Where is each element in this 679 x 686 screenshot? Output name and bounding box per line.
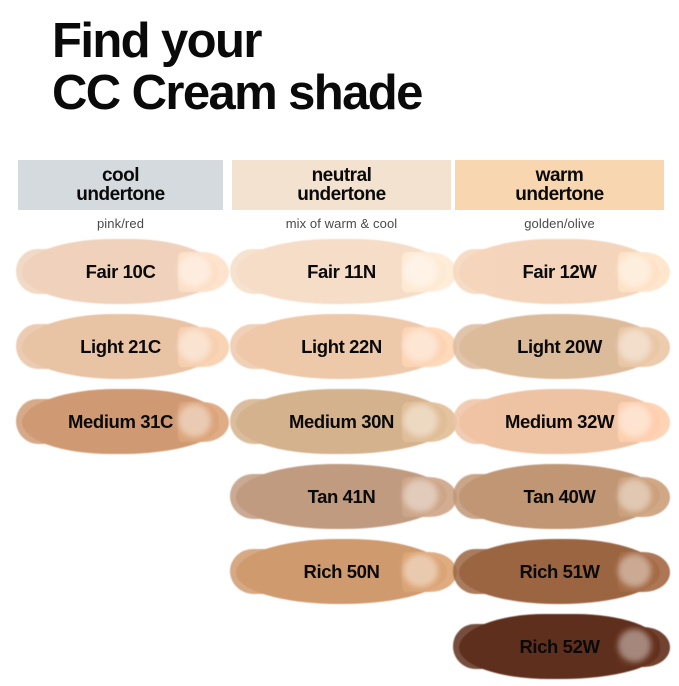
swatch-list-neutral: Fair 11NLight 22NMedium 30NTan 41NRich 5… xyxy=(232,236,451,607)
shade-label: Medium 31C xyxy=(68,411,173,433)
column-subtitle-neutral: mix of warm & cool xyxy=(232,210,451,236)
column-header-warm-line-1: warm xyxy=(515,166,603,185)
column-header-neutral: neutral undertone xyxy=(232,160,451,210)
swatch-list-warm: Fair 12WLight 20WMedium 32WTan 40WRich 5… xyxy=(455,236,664,682)
shade-swatch[interactable]: Fair 11N xyxy=(232,236,451,307)
undertone-column-cool: cool undertone pink/red Fair 10CLight 21… xyxy=(18,160,223,461)
shade-swatch[interactable]: Fair 12W xyxy=(455,236,664,307)
column-header-cool-line-2: undertone xyxy=(76,185,164,204)
swatch-list-cool: Fair 10CLight 21CMedium 31C xyxy=(18,236,223,457)
shade-label: Fair 11N xyxy=(307,261,376,283)
column-header-cool: cool undertone xyxy=(18,160,223,210)
column-header-neutral-line-1: neutral xyxy=(297,166,385,185)
shade-swatch[interactable]: Medium 31C xyxy=(18,386,223,457)
column-header-warm-line-2: undertone xyxy=(515,185,603,204)
undertone-column-neutral: neutral undertone mix of warm & cool Fai… xyxy=(232,160,451,611)
shade-swatch[interactable]: Light 21C xyxy=(18,311,223,382)
column-subtitle-warm: golden/olive xyxy=(455,210,664,236)
page-title: Find your CC Cream shade xyxy=(52,16,652,120)
shade-label: Rich 52W xyxy=(519,636,599,658)
shade-finder-page: Find your CC Cream shade cool undertone … xyxy=(0,0,679,679)
shade-swatch[interactable]: Tan 41N xyxy=(232,461,451,532)
shade-swatch[interactable]: Rich 51W xyxy=(455,536,664,607)
shade-label: Medium 32W xyxy=(505,411,614,433)
shade-swatch[interactable]: Fair 10C xyxy=(18,236,223,307)
shade-label: Tan 40W xyxy=(524,486,596,508)
shade-label: Fair 10C xyxy=(86,261,156,283)
shade-gloss-highlight xyxy=(178,329,211,362)
shade-label: Tan 41N xyxy=(308,486,376,508)
shade-gloss-highlight xyxy=(403,479,438,512)
shade-swatch[interactable]: Medium 30N xyxy=(232,386,451,457)
column-header-neutral-line-2: undertone xyxy=(297,185,385,204)
column-header-cool-line-1: cool xyxy=(76,166,164,185)
column-header-warm: warm undertone xyxy=(455,160,664,210)
page-title-line-1: Find your xyxy=(52,16,652,68)
undertone-columns: cool undertone pink/red Fair 10CLight 21… xyxy=(0,160,679,679)
shade-label: Light 20W xyxy=(517,336,602,358)
shade-swatch[interactable]: Light 20W xyxy=(455,311,664,382)
shade-label: Light 21C xyxy=(80,336,161,358)
shade-gloss-highlight xyxy=(403,554,438,587)
shade-label: Rich 51W xyxy=(519,561,599,583)
shade-label: Light 22N xyxy=(301,336,382,358)
shade-gloss-highlight xyxy=(178,254,211,287)
shade-swatch[interactable]: Medium 32W xyxy=(455,386,664,457)
page-title-line-2: CC Cream shade xyxy=(52,68,652,120)
shade-label: Rich 50N xyxy=(304,561,380,583)
shade-gloss-highlight xyxy=(403,329,438,362)
shade-label: Medium 30N xyxy=(289,411,394,433)
shade-swatch[interactable]: Rich 50N xyxy=(232,536,451,607)
shade-gloss-highlight xyxy=(403,254,438,287)
shade-swatch[interactable]: Light 22N xyxy=(232,311,451,382)
shade-label: Fair 12W xyxy=(523,261,597,283)
undertone-column-warm: warm undertone golden/olive Fair 12WLigh… xyxy=(455,160,664,686)
shade-gloss-highlight xyxy=(178,404,211,437)
shade-gloss-highlight xyxy=(403,404,438,437)
shade-swatch[interactable]: Tan 40W xyxy=(455,461,664,532)
shade-swatch[interactable]: Rich 52W xyxy=(455,611,664,682)
column-subtitle-cool: pink/red xyxy=(18,210,223,236)
